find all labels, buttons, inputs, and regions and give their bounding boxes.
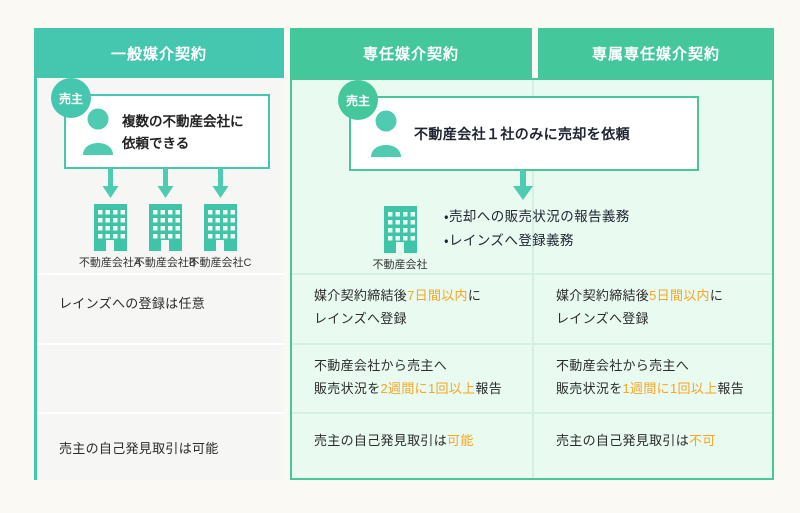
row-divider-3-c1 (37, 412, 284, 414)
diagram-general: 売主 複数の不動産会社に 依頼できる 不動産会社A 不動産会社B 不動産会社C (37, 78, 284, 260)
cell-exclusive-right-reins-highlight: 5日間以内 (649, 288, 710, 303)
cell-exclusive-reins-post: に (468, 288, 481, 303)
cell-exclusive-right-report-post: 報告 (717, 381, 744, 396)
cell-exclusive-report-pre: 販売状況を (314, 381, 381, 396)
cell-exclusive-right-reins: 媒介契約締結後5日間以内に レインズへ登録 (556, 285, 723, 331)
cell-exclusive-report-post: 報告 (475, 381, 502, 396)
exclusive-bullet-1: ・売却への販売状況の報告義務 (444, 205, 630, 229)
cell-exclusive-right-report-pre: 販売状況を (556, 381, 623, 396)
cell-exclusive-reins-highlight: 7日間以内 (407, 288, 468, 303)
cell-exclusive-reins-line2: レインズへ登録 (314, 308, 481, 331)
company-label-c: 不動産会社C (177, 254, 263, 270)
exclusive-box-text: 不動産会社１社のみに売却を依頼 (414, 124, 630, 144)
seller-badge-exclusive: 売主 (338, 80, 378, 120)
general-box-text-line2: 依頼できる (122, 133, 244, 155)
cell-exclusive-right-report-line1: 不動産会社から売主へ (556, 355, 744, 378)
cell-general-selfdeal: 売主の自己発見取引は可能 (59, 438, 219, 461)
row-divider-1-c23 (292, 273, 772, 275)
column-header-exclusive: 専任媒介契約 (290, 28, 532, 78)
column-header-exclusive-right: 専属専任媒介契約 (538, 28, 774, 78)
column-general: 売主 複数の不動産会社に 依頼できる 不動産会社A 不動産会社B 不動産会社C … (34, 78, 284, 480)
column-header-general-label: 一般媒介契約 (111, 43, 207, 64)
cell-exclusive-selfdeal-highlight: 可能 (447, 433, 474, 448)
cell-exclusive-report: 不動産会社から売主へ 販売状況を2週間に1回以上報告 (314, 355, 502, 401)
seller-badge-general-label: 売主 (59, 90, 83, 107)
cell-exclusive-right-reins-pre: 媒介契約締結後 (556, 288, 649, 303)
columns-exclusive-group: 売主 不動産会社１社のみに売却を依頼 不動産会社 ・売却への販売状況の報告義務 … (290, 78, 774, 480)
company-label-exclusive: 不動産会社 (357, 256, 443, 272)
cell-general-reins-line1: レインズへの登録は任意 (59, 296, 205, 311)
cell-exclusive-right-report-highlight: 1週間に1回以上 (623, 381, 718, 396)
cell-exclusive-selfdeal-pre: 売主の自己発見取引は (314, 433, 447, 448)
cell-exclusive-right-reins-line2: レインズへ登録 (556, 308, 723, 331)
exclusive-bullet-2: ・レインズへ登録義務 (444, 229, 630, 253)
column-header-exclusive-label: 専任媒介契約 (363, 43, 459, 64)
table-header-row: 一般媒介契約 専任媒介契約 専属専任媒介契約 (34, 28, 774, 78)
column-header-general: 一般媒介契約 (34, 28, 284, 78)
cell-general-selfdeal-line1: 売主の自己発見取引は可能 (59, 441, 219, 456)
row-divider-2-c23 (292, 343, 772, 345)
table-body: 売主 複数の不動産会社に 依頼できる 不動産会社A 不動産会社B 不動産会社C … (34, 78, 774, 480)
row-divider-3-c23 (292, 412, 772, 414)
cell-exclusive-right-selfdeal-highlight: 不可 (689, 433, 716, 448)
general-box-text-line1: 複数の不動産会社に (122, 111, 244, 133)
cell-exclusive-right-reins-post: に (710, 288, 723, 303)
cell-exclusive-report-highlight: 2週間に1回以上 (381, 381, 476, 396)
column-header-exclusive-right-label: 専属専任媒介契約 (592, 43, 720, 64)
cell-exclusive-selfdeal: 売主の自己発見取引は可能 (314, 430, 474, 453)
seller-badge-exclusive-label: 売主 (346, 92, 370, 109)
cell-exclusive-right-selfdeal: 売主の自己発見取引は不可 (556, 430, 716, 453)
cell-exclusive-right-report: 不動産会社から売主へ 販売状況を1週間に1回以上報告 (556, 355, 744, 401)
cell-exclusive-right-selfdeal-pre: 売主の自己発見取引は (556, 433, 689, 448)
cell-exclusive-reins-pre: 媒介契約締結後 (314, 288, 407, 303)
row-divider-2-c1 (37, 343, 284, 345)
seller-badge-general: 売主 (51, 78, 91, 118)
exclusive-bullet-list: ・売却への販売状況の報告義務 ・レインズへ登録義務 (444, 205, 630, 252)
comparison-table: 一般媒介契約 専任媒介契約 専属専任媒介契約 (34, 28, 774, 480)
diagram-exclusive: 売主 不動産会社１社のみに売却を依頼 不動産会社 ・売却への販売状況の報告義務 … (292, 80, 772, 262)
row-divider-1-c1 (37, 273, 284, 275)
cell-exclusive-reins: 媒介契約締結後7日間以内に レインズへ登録 (314, 285, 481, 331)
cell-general-reins: レインズへの登録は任意 (59, 293, 205, 316)
cell-exclusive-report-line1: 不動産会社から売主へ (314, 355, 502, 378)
general-box-text: 複数の不動産会社に 依頼できる (122, 111, 244, 154)
